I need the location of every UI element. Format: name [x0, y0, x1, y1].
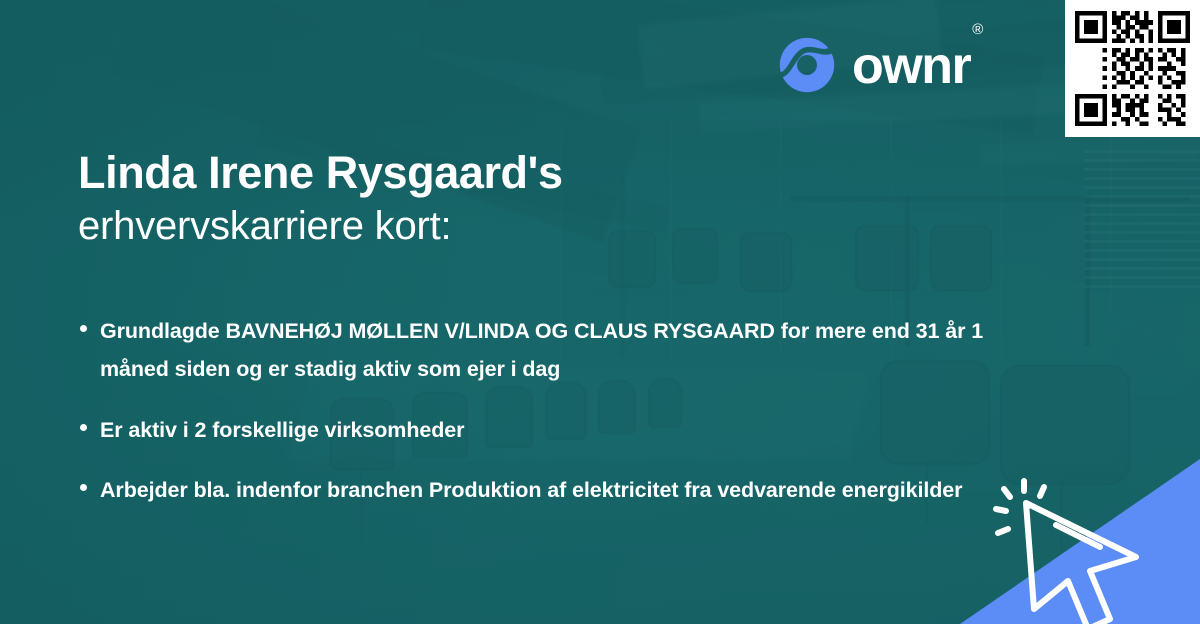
career-card-banner: ownr ® — [0, 0, 1200, 624]
page-title: Linda Irene Rysgaard's erhvervskarriere … — [78, 148, 563, 250]
bullet-dot-icon — [80, 424, 87, 431]
list-item-text: Grundlagde BAVNEHØJ MØLLEN V/LINDA OG CL… — [100, 312, 1010, 389]
list-item: Grundlagde BAVNEHØJ MØLLEN V/LINDA OG CL… — [80, 312, 1010, 389]
brand-logo[interactable]: ownr ® — [778, 36, 981, 94]
bullet-dot-icon — [80, 325, 87, 332]
list-item-text: Arbejder bla. indenfor branchen Produkti… — [100, 471, 962, 509]
qr-code-image — [1075, 10, 1190, 127]
list-item-text: Er aktiv i 2 forskellige virksomheder — [100, 411, 464, 449]
ownr-circular-logo-icon — [778, 36, 836, 94]
headline-person-name: Linda Irene Rysgaard's — [78, 148, 563, 198]
headline-subtitle: erhvervskarriere kort: — [78, 202, 563, 250]
career-fact-list: Grundlagde BAVNEHØJ MØLLEN V/LINDA OG CL… — [80, 312, 1010, 531]
qr-code[interactable] — [1065, 0, 1200, 137]
bullet-dot-icon — [80, 484, 87, 491]
list-item: Arbejder bla. indenfor branchen Produkti… — [80, 471, 1010, 509]
registered-trademark-icon: ® — [972, 21, 983, 38]
list-item: Er aktiv i 2 forskellige virksomheder — [80, 411, 1010, 449]
logo-wordmark: ownr — [852, 40, 970, 92]
